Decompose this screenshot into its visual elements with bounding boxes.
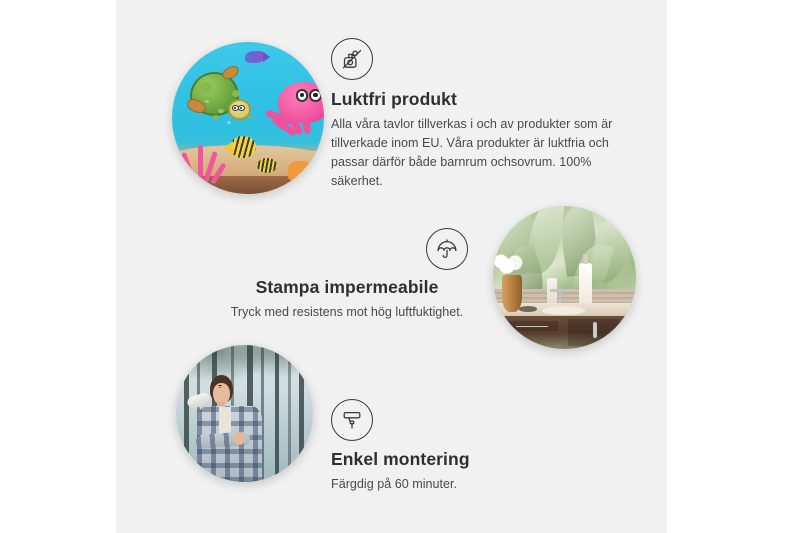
feature-easy-mounting: Enkel montering Färgdig på 60 minuter. [331, 399, 581, 494]
feature-waterproof-title: Stampa impermeabile [216, 277, 478, 298]
paint-roller-icon [331, 399, 373, 441]
octopus-eye [296, 89, 309, 102]
feature-easy-body: Färgdig på 60 minuter. [331, 475, 581, 494]
door-handle [593, 322, 597, 338]
blue-fish-icon [245, 51, 265, 63]
feature-odourless-icon-wrap [331, 38, 631, 80]
no-fragrance-icon [331, 38, 373, 80]
woman-figure [190, 375, 267, 482]
sink-basin [542, 306, 585, 315]
underwater-illustration [172, 42, 324, 194]
turtle-head [228, 99, 251, 119]
screenshot-canvas: Luktfri produkt Alla våra tavlor tillver… [0, 0, 800, 533]
drawer-handle [516, 326, 548, 327]
woman-eye [220, 385, 222, 386]
umbrella-icon [426, 228, 468, 270]
soap-dish [519, 306, 538, 312]
forest-illustration [176, 345, 313, 482]
coral-icon [178, 133, 227, 185]
feature-odourless: Luktfri produkt Alla våra tavlor tillver… [331, 38, 631, 192]
feature-odourless-body: Alla våra tavlor tillverkas i och av pro… [331, 115, 631, 192]
woman-smile [219, 387, 221, 388]
turtle-eye [232, 105, 239, 111]
octopus-body [278, 82, 324, 123]
yellow-fish-icon [230, 136, 256, 157]
soap-bottle [579, 263, 592, 306]
feature-waterproof-icon-wrap [216, 228, 478, 270]
feature-easy-title: Enkel montering [331, 449, 581, 470]
octopus-icon [263, 82, 324, 149]
feature-waterproof-body: Tryck med resistens mot hög luftfuktighe… [216, 303, 478, 322]
bathroom-illustration [493, 206, 636, 349]
turtle-eye [238, 105, 245, 111]
sea-turtle-icon [186, 69, 250, 124]
octopus-eye [309, 89, 322, 102]
vanity-cabinet [493, 316, 636, 349]
yellow-fish-icon [257, 158, 277, 173]
photo-underwater [172, 42, 324, 194]
woman-hand [234, 432, 244, 445]
feature-waterproof: Stampa impermeabile Tryck med resistens … [216, 228, 478, 322]
photo-bathroom [493, 206, 636, 349]
photo-forest [176, 345, 313, 482]
feature-odourless-title: Luktfri produkt [331, 89, 631, 110]
feature-easy-icon-wrap [331, 399, 581, 441]
starfish-icon [288, 161, 312, 182]
gold-vase [502, 275, 522, 312]
coral-branch [198, 145, 204, 185]
